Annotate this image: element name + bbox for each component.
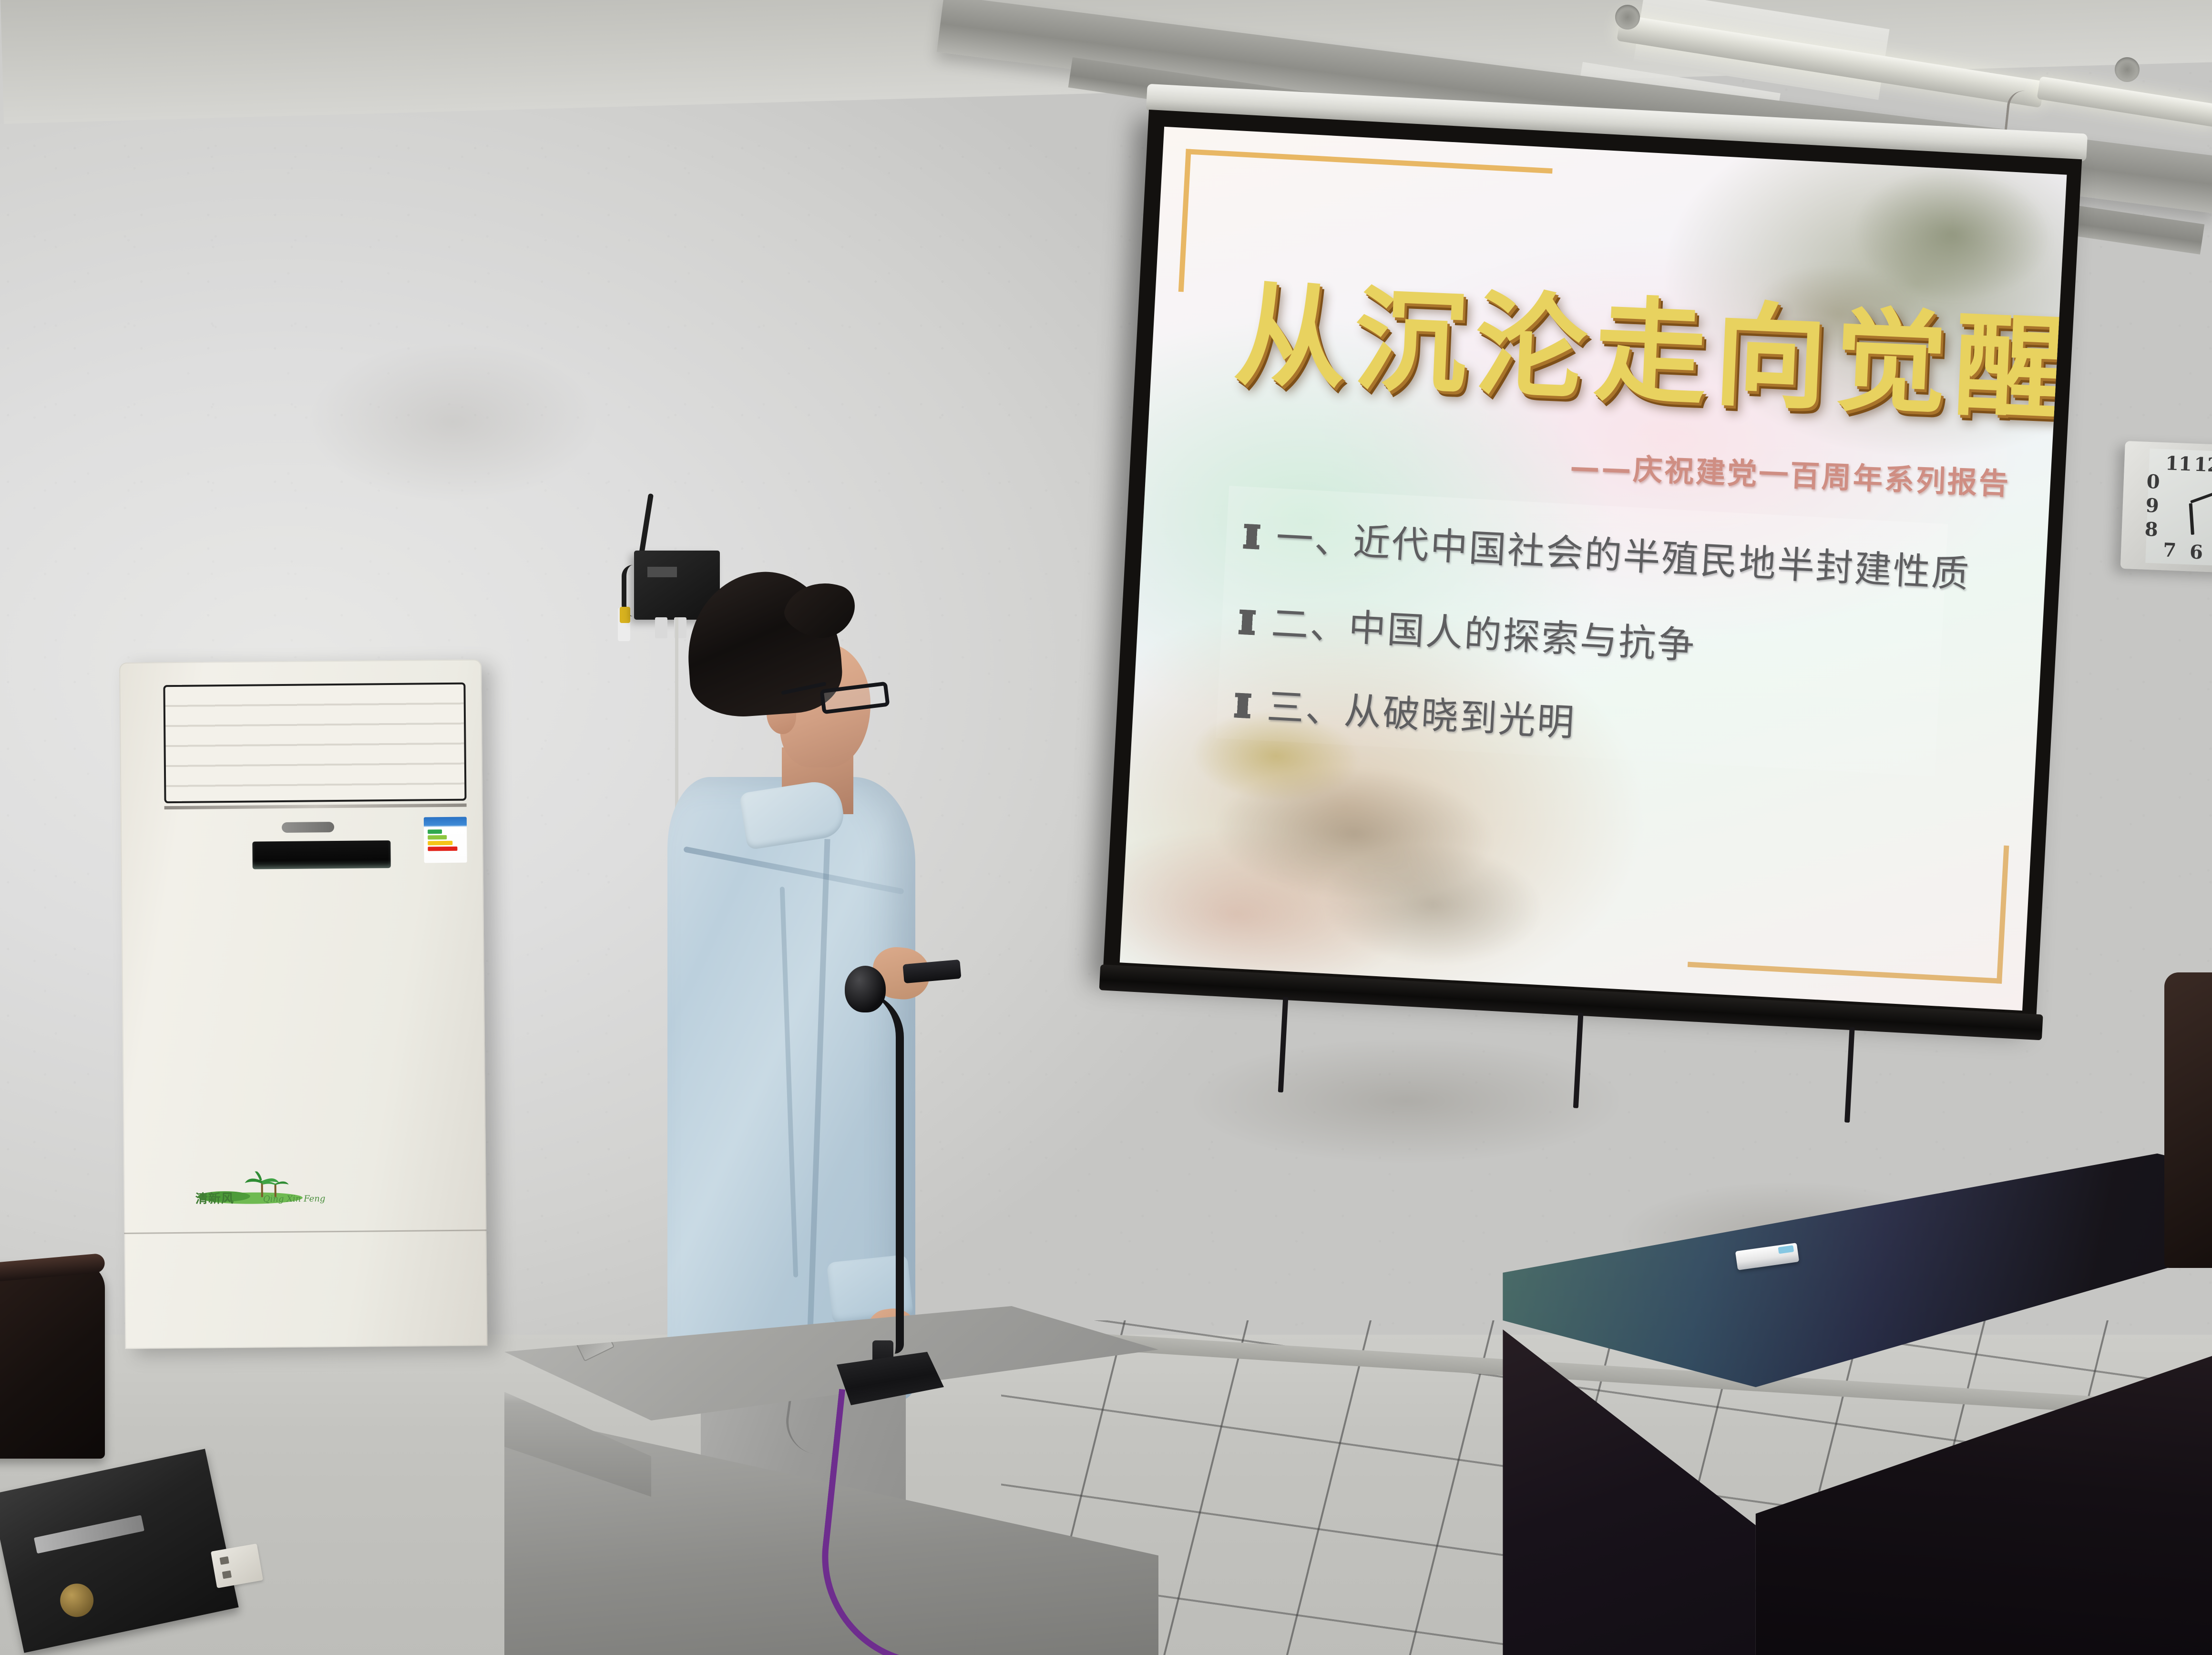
- wall-stain: [1192, 1039, 1621, 1163]
- ac-air-intake-grille: [163, 683, 466, 804]
- clock-hour-hand: [2189, 503, 2194, 535]
- ac-energy-label: [424, 817, 467, 863]
- chair-right-edge: [2164, 972, 2212, 1268]
- projection-screen-assembly: 从沉沦走向觉醒 ——庆祝建党一百周年系列报告 一、近代中国社会的半殖民地半封建性…: [1101, 110, 2106, 1060]
- screen-black-border: 从沉沦走向觉醒 ——庆祝建党一百周年系列报告 一、近代中国社会的半殖民地半封建性…: [1103, 110, 2082, 1026]
- clock-numeral: 0: [2146, 470, 2161, 493]
- bullet-marker-icon: [1234, 693, 1251, 718]
- receiver-yellow-tag: [620, 607, 630, 623]
- lectern-top-surface: [491, 1306, 1158, 1420]
- slide-decoration-bottom-right: [1688, 829, 2009, 984]
- ac-brand-latin-mark: Qing Xin Feng: [263, 1194, 326, 1204]
- energy-bar: [428, 847, 457, 851]
- chair: [0, 1239, 138, 1506]
- wall-clock: 11 12 1 0 9 8 7 6 5: [2120, 441, 2212, 573]
- ac-brand-chinese-mark: 清新风: [195, 1189, 234, 1207]
- projected-slide: 从沉沦走向觉醒 ——庆祝建党一百周年系列报告 一、近代中国社会的半殖民地半封建性…: [1120, 127, 2067, 1011]
- ac-display-panel: [252, 840, 390, 869]
- clock-numeral: 12: [2193, 453, 2212, 477]
- microphone-capsule: [845, 966, 886, 1012]
- microphone-gooseneck: [858, 991, 904, 1354]
- ceiling-mount-hole: [1615, 5, 1640, 30]
- bullet-marker-icon: [1239, 610, 1256, 635]
- wall-stain: [310, 343, 596, 501]
- ceiling-mount-hole: [2115, 57, 2140, 82]
- teacher-desk: [1473, 1149, 2212, 1655]
- chair-backrest: [0, 1263, 105, 1459]
- clock-numeral: 9: [2145, 494, 2160, 517]
- desk-top-surface: [1473, 1149, 2212, 1387]
- clock-numeral: 6: [2189, 541, 2203, 563]
- lecture-hall-photo: 从沉沦走向觉醒 ——庆祝建党一百周年系列报告 一、近代中国社会的半殖民地半封建性…: [0, 0, 2212, 1655]
- clock-numeral: 11: [2165, 452, 2192, 475]
- av-rack-label-strip: [34, 1515, 144, 1553]
- energy-bar: [428, 835, 447, 839]
- clock-numeral: 8: [2144, 518, 2159, 541]
- slide-title: 从沉沦走向觉醒: [1232, 278, 1999, 423]
- energy-bar: [428, 829, 442, 834]
- microphone-cable: [811, 1389, 1001, 1655]
- bullet-marker-icon: [1243, 524, 1260, 550]
- energy-bar: [428, 841, 452, 845]
- clock-face: 11 12 1 0 9 8 7 6 5: [2145, 449, 2212, 566]
- floor-standing-air-conditioner: 清新风 Qing Xin Feng: [119, 659, 488, 1349]
- lectern-cable-grommet: [573, 1322, 614, 1362]
- ac-brand-logo: [282, 822, 334, 833]
- slide-subtitle: ——庆祝建党一百周年系列报告: [1569, 443, 2011, 503]
- av-rack-knob: [57, 1581, 97, 1620]
- clock-numeral: 7: [2162, 539, 2177, 562]
- clock-minute-hand: [2190, 487, 2212, 503]
- lectern: [491, 1306, 1158, 1655]
